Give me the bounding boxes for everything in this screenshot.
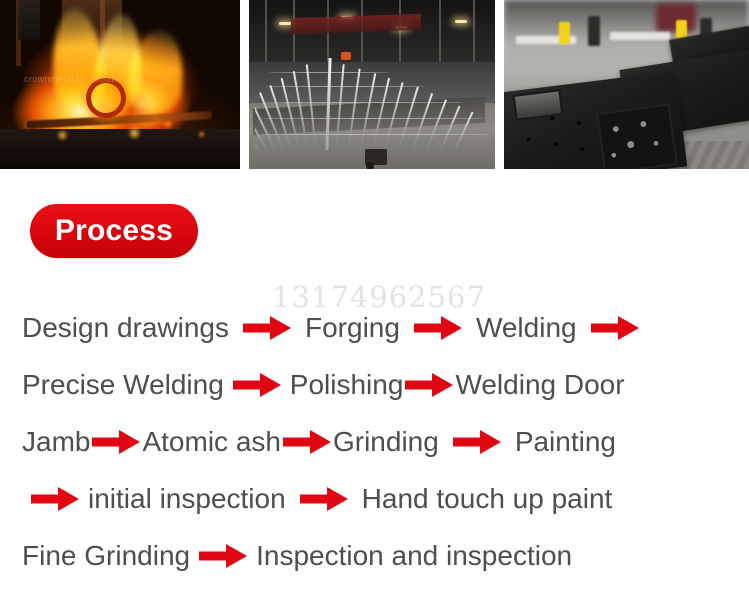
arrow-right-icon: [199, 543, 247, 569]
process-step: Precise Welding: [22, 371, 224, 399]
process-step: Fine Grinding: [22, 542, 190, 570]
arrow-right-icon: [243, 315, 291, 341]
process-step: Grinding: [333, 428, 439, 456]
ornamental-scroll-panel: [596, 103, 678, 169]
process-step: Design drawings: [22, 314, 229, 342]
process-flow: Design drawingsForgingWeldingPrecise Wel…: [0, 299, 749, 584]
process-section: Process 13174962567 Design drawingsForgi…: [0, 169, 749, 597]
photo-watermark: crownmetal.en.alibaba.com: [24, 74, 144, 84]
worker-yellow-vest: [559, 22, 570, 44]
process-badge-label: Process: [55, 214, 173, 248]
process-step: Hand touch up paint: [362, 485, 613, 513]
process-flow-line: JambAtomic ashGrindingPainting: [0, 413, 749, 470]
forging-fire-photo: crownmetal.en.alibaba.com: [0, 0, 240, 169]
arrow-right-icon: [300, 486, 348, 512]
process-step: Atomic ash: [142, 428, 281, 456]
process-step: Jamb: [22, 428, 90, 456]
process-flow-line: Precise WeldingPolishingWelding Door: [0, 356, 749, 413]
steel-arch-frame-photo: [249, 0, 495, 169]
black-doors-photo: [504, 0, 749, 169]
process-flow-line: Fine GrindingInspection and inspection: [0, 527, 749, 584]
arrow-right-icon: [453, 429, 501, 455]
process-badge: Process: [30, 204, 198, 258]
workshop-worker: [341, 52, 351, 60]
process-flow-line: initial inspectionHand touch up paint: [0, 470, 749, 527]
arrow-right-icon: [92, 429, 140, 455]
photo-strip: crownmetal.en.alibaba.com: [0, 0, 749, 169]
process-step: Welding: [476, 314, 577, 342]
process-step: Painting: [515, 428, 616, 456]
arrow-right-icon: [591, 315, 639, 341]
arrow-right-icon: [31, 486, 79, 512]
process-flow-line: Design drawingsForgingWelding: [0, 299, 749, 356]
arrow-right-icon: [414, 315, 462, 341]
worker-silhouette: [588, 16, 600, 46]
arrow-right-icon: [283, 429, 331, 455]
process-step: Inspection and inspection: [256, 542, 572, 570]
arch-frame: [255, 56, 489, 152]
workshop-cart: [365, 149, 387, 165]
process-step: Welding Door: [455, 371, 624, 399]
arrow-right-icon: [233, 372, 281, 398]
process-step: Polishing: [290, 371, 404, 399]
process-step: Forging: [305, 314, 400, 342]
arrow-right-icon: [405, 372, 453, 398]
forge-worker-silhouette: [18, 0, 40, 40]
process-step: initial inspection: [88, 485, 286, 513]
work-table: [610, 32, 670, 40]
